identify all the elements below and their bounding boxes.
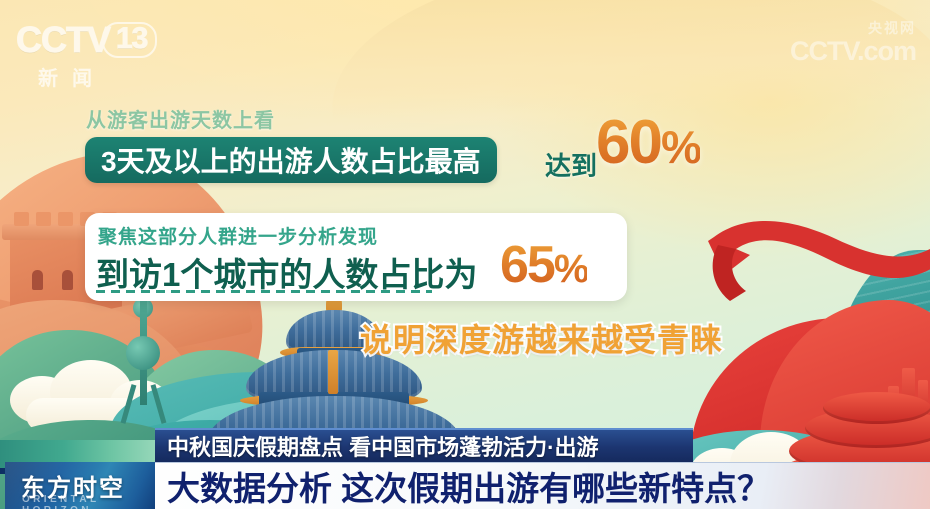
block1-value-unit: % [661,121,700,173]
block2-statement-text: 到访1个城市的人数占比为 [96,248,477,296]
block1-pill-text: 3天及以上的出游人数占比最高 [101,140,481,180]
block1-value: 60% [596,112,700,174]
cctv13-logo: CCTV 13 新闻 [16,22,206,84]
topic-bar: 中秋国庆假期盘点 看中国市场蓬勃活力·出游 [155,428,693,462]
block1-lead-text: 从游客出游天数上看 [86,104,275,133]
block1-highlight-pill: 3天及以上的出游人数占比最高 [85,137,497,183]
cctv-logo-text: CCTV [16,22,110,58]
topic-text: 中秋国庆假期盘点 看中国市场蓬勃活力·出游 [167,430,598,462]
block2-value-unit: % [554,247,588,291]
block1-value-number: 60 [596,108,661,177]
program-name-en: ORIENTAL HORIZON [22,494,155,509]
cctv-com-watermark: 央视网 CCTV.com [790,18,916,65]
red-ribbon-illustration [706,215,930,325]
block2-lead-text: 聚焦这部分人群进一步分析发现 [98,222,378,249]
program-logo-box: 东方时空 ORIENTAL HORIZON [5,462,155,509]
headline-bar: 大数据分析 这次假期出游有哪些新特点？ [155,462,930,509]
block2-value: 65% [500,239,587,291]
cctv-logo-subtitle: 新闻 [38,62,206,91]
cctv-logo-number: 13 [102,22,157,58]
watermark-cn-text: 央视网 [790,18,916,38]
broadcast-frame: CCTV 13 新闻 央视网 CCTV.com 从游客出游天数上看 3天及以上的… [0,0,930,509]
block2-dashed-underline [96,290,432,293]
block1-suffix-label: 达到 [545,146,597,183]
watermark-en-text: CCTV.com [790,38,916,65]
block3-conclusion-text: 说明深度游越来越受青睐 [360,315,723,361]
block2-value-number: 65 [500,236,554,294]
headline-text: 大数据分析 这次假期出游有哪些新特点？ [167,462,770,509]
